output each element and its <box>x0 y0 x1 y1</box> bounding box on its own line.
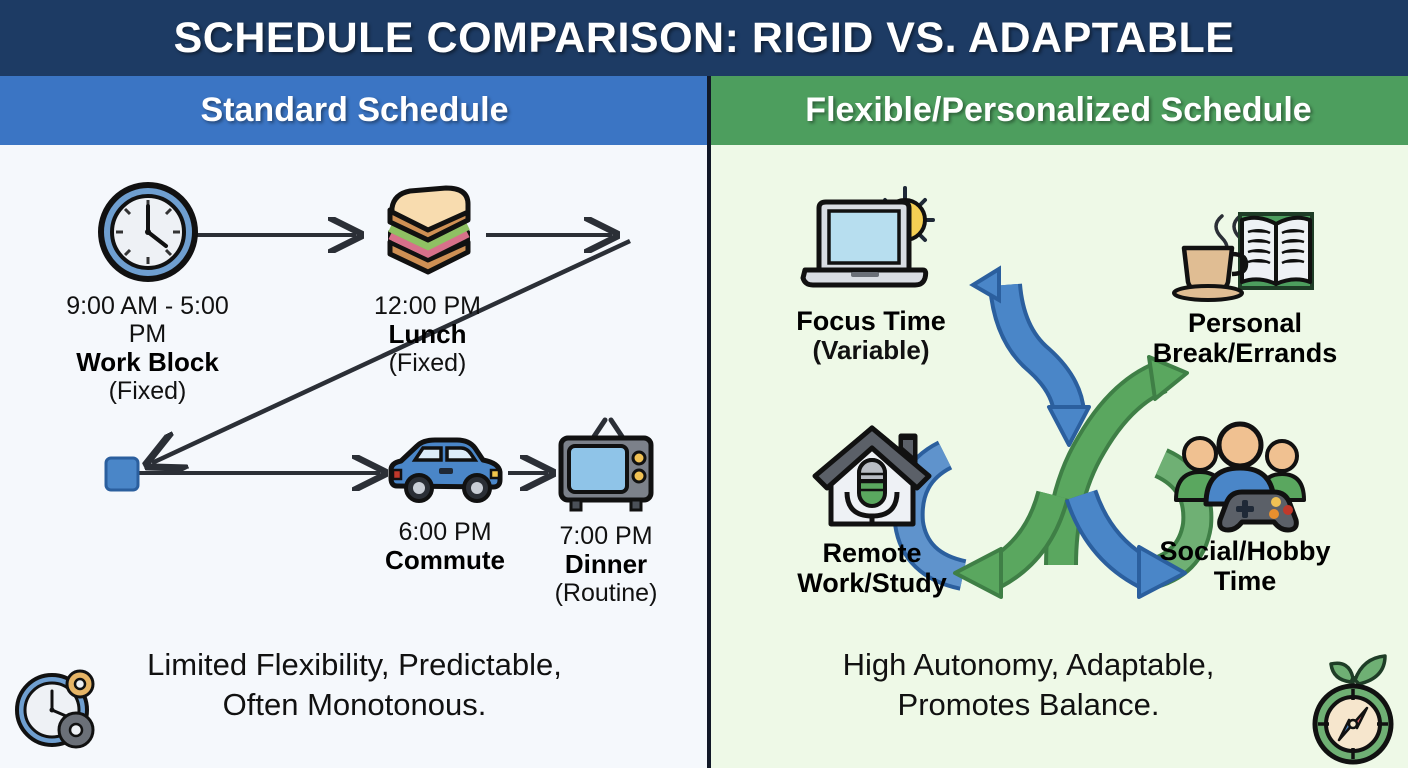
node-time: 12:00 PM <box>345 292 510 320</box>
coffee-book-icon <box>1170 192 1320 302</box>
infographic-page: SCHEDULE COMPARISON: RIGID VS. ADAPTABLE… <box>0 0 1408 768</box>
node-name: Remote <box>788 538 956 568</box>
node-focus-time: Focus Time (Variable) <box>785 182 957 365</box>
node-name: Personal <box>1145 308 1345 338</box>
laptop-sun-icon <box>801 182 941 298</box>
people-gamepad-icon <box>1170 420 1320 532</box>
node-name: Dinner <box>536 550 676 579</box>
blue-square-node <box>103 455 141 493</box>
clock-icon <box>96 180 200 284</box>
compass-leaf-icon <box>1303 648 1403 766</box>
node-name: Work Block <box>60 348 235 377</box>
node-sub: (Variable) <box>785 336 957 365</box>
node-name: Social/Hobby <box>1150 536 1340 566</box>
node-name: Focus Time <box>785 306 957 336</box>
right-footer-line1: High Autonomy, Adaptable, <box>843 645 1215 685</box>
title-bar: SCHEDULE COMPARISON: RIGID VS. ADAPTABLE <box>0 0 1408 76</box>
node-lunch: 12:00 PM Lunch (Fixed) <box>345 180 510 377</box>
node-commute: 6:00 PM Commute <box>370 430 520 575</box>
car-icon <box>383 430 508 508</box>
node-social-hobby: Social/Hobby Time <box>1150 420 1340 596</box>
node-personal-break: Personal Break/Errands <box>1145 192 1345 368</box>
node-time: 9:00 AM - 5:00 PM <box>60 292 235 348</box>
sandwich-icon <box>372 180 484 284</box>
node-time: 7:00 PM <box>536 522 676 550</box>
tv-icon <box>553 418 659 514</box>
blue-square-icon <box>103 455 141 493</box>
left-column-header: Standard Schedule <box>0 76 709 145</box>
node-time: 6:00 PM <box>370 518 520 546</box>
node-note: (Fixed) <box>345 349 510 377</box>
right-footer-line2: Promotes Balance. <box>843 685 1215 725</box>
left-column-header-label: Standard Schedule <box>201 91 509 130</box>
node-dinner: 7:00 PM Dinner (Routine) <box>536 418 676 607</box>
node-remote-work: Remote Work/Study <box>788 420 956 598</box>
left-footer-line2: Often Monotonous. <box>147 685 562 725</box>
node-note: (Fixed) <box>60 377 235 405</box>
node-sub: Break/Errands <box>1145 338 1345 368</box>
page-title: SCHEDULE COMPARISON: RIGID VS. ADAPTABLE <box>174 14 1235 63</box>
right-column-header-label: Flexible/Personalized Schedule <box>805 91 1311 130</box>
node-name: Lunch <box>345 320 510 349</box>
node-name: Commute <box>370 546 520 575</box>
node-sub: Time <box>1150 566 1340 596</box>
node-work-block: 9:00 AM - 5:00 PM Work Block (Fixed) <box>60 180 235 405</box>
left-footer-line1: Limited Flexibility, Predictable, <box>147 645 562 685</box>
node-sub: Work/Study <box>788 568 956 598</box>
house-microphone-icon <box>807 420 937 530</box>
left-footer: Limited Flexibility, Predictable, Often … <box>0 645 709 726</box>
node-note: (Routine) <box>536 579 676 607</box>
right-column-header: Flexible/Personalized Schedule <box>709 76 1408 145</box>
